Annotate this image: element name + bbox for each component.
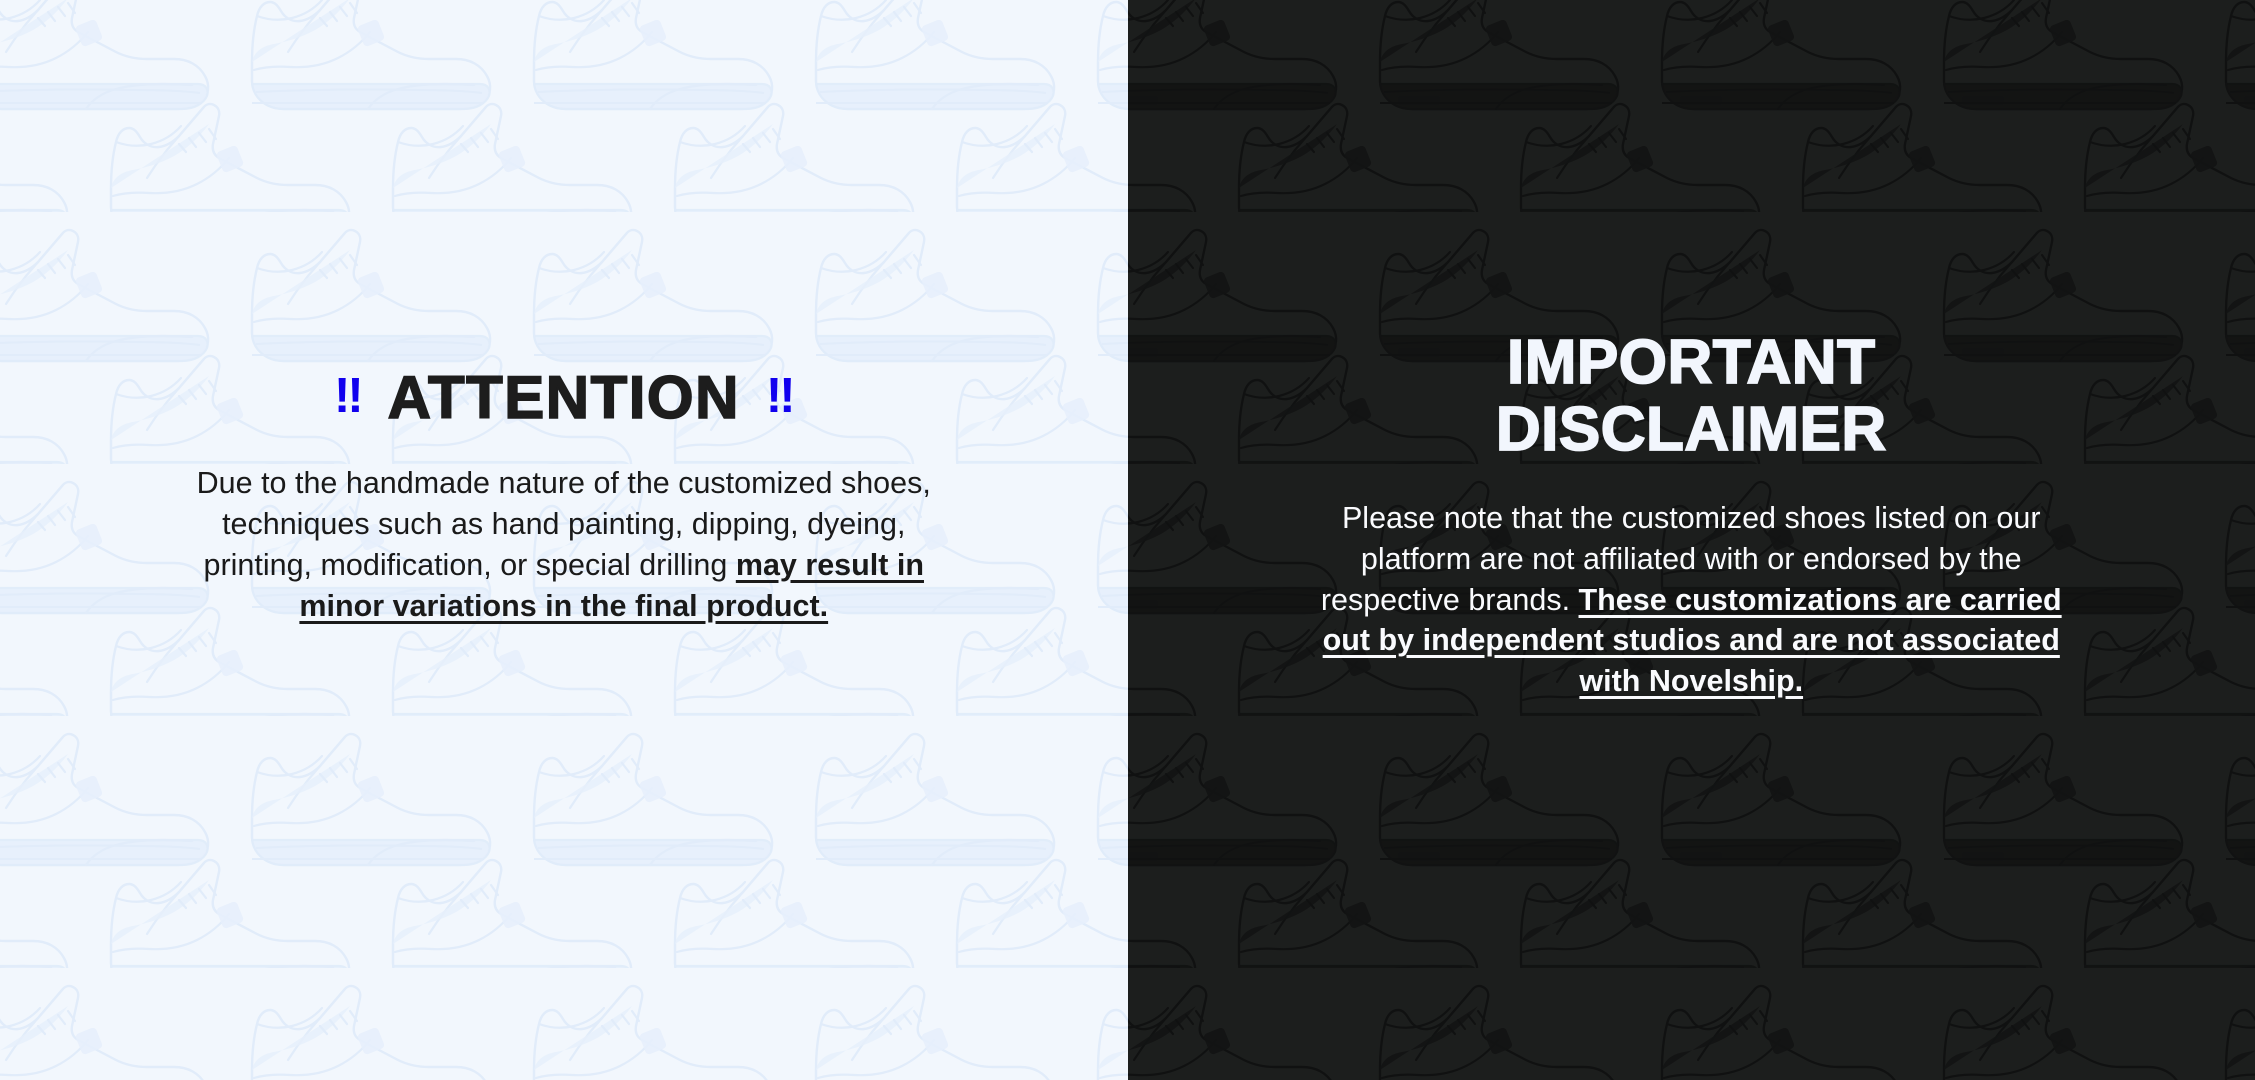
- disclaimer-heading-line2: DISCLAIMER: [1496, 395, 1887, 464]
- disclaimer-heading-line1: IMPORTANT: [1507, 328, 1875, 397]
- disclaimer-heading: IMPORTANT DISCLAIMER: [1496, 330, 1887, 464]
- attention-panel: ‼ ATTENTION ‼ Due to the handmade nature…: [0, 0, 1128, 1080]
- attention-heading: ‼ ATTENTION ‼: [334, 368, 794, 428]
- double-exclamation-icon-right: ‼: [766, 372, 794, 421]
- double-exclamation-icon-left: ‼: [334, 372, 362, 421]
- disclaimer-body: Please note that the customized shoes li…: [1296, 498, 2086, 702]
- attention-heading-text: ATTENTION: [388, 368, 740, 428]
- disclaimer-banner: ‼ ATTENTION ‼ Due to the handmade nature…: [0, 0, 2255, 1080]
- disclaimer-content: IMPORTANT DISCLAIMER Please note that th…: [1128, 0, 2255, 702]
- attention-body: Due to the handmade nature of the custom…: [164, 463, 964, 626]
- attention-content: ‼ ATTENTION ‼ Due to the handmade nature…: [0, 0, 1128, 626]
- disclaimer-panel: IMPORTANT DISCLAIMER Please note that th…: [1128, 0, 2255, 1080]
